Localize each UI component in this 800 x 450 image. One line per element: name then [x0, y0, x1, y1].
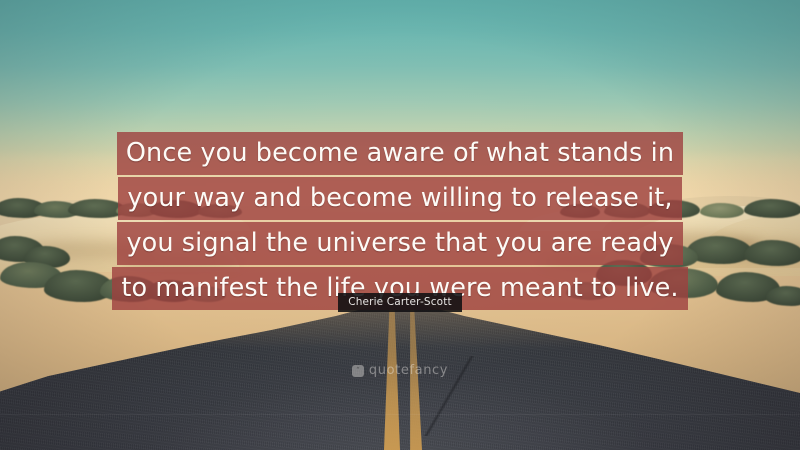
shrub-left-6 — [198, 204, 242, 218]
shrub-right-9 — [596, 260, 652, 286]
watermark: “ quotefancy — [0, 364, 800, 377]
dune-shadow-4 — [120, 252, 240, 270]
shrub-right-7 — [640, 244, 698, 268]
shrub-right-1 — [560, 204, 600, 218]
shrub-right-4 — [700, 203, 744, 218]
shrub-left-5 — [150, 200, 202, 218]
shrub-right-8 — [744, 240, 800, 266]
shrub-right-2 — [604, 202, 650, 218]
quote-attribution: Cherie Carter-Scott — [0, 292, 800, 312]
road-seam — [0, 414, 800, 415]
quotefancy-logo-icon: “ — [352, 365, 364, 377]
shrub-right-5 — [744, 199, 800, 218]
quote-poster: Once you become aware of what stands in … — [0, 0, 800, 450]
shrub-right-3 — [648, 200, 700, 218]
watermark-brand-label: quotefancy — [369, 364, 448, 377]
author-name: Cherie Carter-Scott — [338, 293, 462, 312]
